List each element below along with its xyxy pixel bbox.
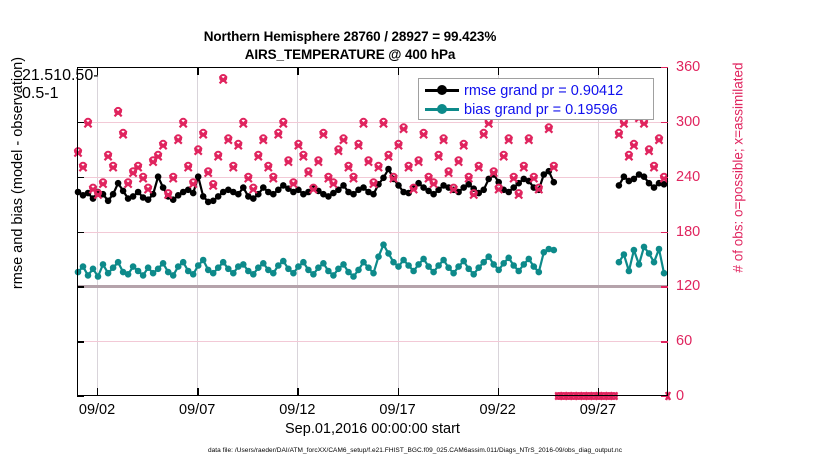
y-right-tick-label: 60 [676, 333, 692, 349]
y-right-tickmark [661, 177, 668, 178]
y-right-tickmark [661, 122, 668, 123]
y-left-tickmark [77, 396, 84, 397]
x-tick-label: 09/07 [179, 402, 215, 418]
y-axis-left-label: rmse and bias (model - observation) [10, 3, 26, 343]
y-right-tick-label: 180 [676, 224, 700, 240]
y-right-tickmark [661, 67, 668, 68]
x-tick-label: 09/27 [580, 402, 616, 418]
y-left-tick-label: 1.5 [31, 67, 53, 84]
legend-entry-rmse: rmse grand pr = 0.90412 [425, 81, 623, 100]
rmse-marker-swatch [437, 85, 447, 95]
x-tickmark [197, 388, 198, 395]
x-tickmark [297, 388, 298, 395]
x-tick-label: 09/02 [79, 402, 115, 418]
y-right-tickmark [661, 341, 668, 342]
y-left-tickmark [77, 122, 84, 123]
bias-marker-swatch [437, 104, 447, 114]
y-right-tickmark [661, 286, 668, 287]
y-right-tick-label: 240 [676, 169, 700, 185]
x-tickmark [97, 388, 98, 395]
y-axis-right-ticks: 360300240180120600 [672, 67, 732, 396]
y-right-tick-label: 120 [676, 278, 700, 294]
y-right-tick-label: 360 [676, 59, 700, 75]
y-right-tick-label: 300 [676, 114, 700, 130]
y-left-tickmark [77, 232, 84, 233]
legend-entry-bias: bias grand pr = 0.19596 [425, 100, 618, 119]
x-tickmark [197, 68, 198, 75]
y-left-tickmark [77, 67, 84, 68]
y-right-tickmark [661, 232, 668, 233]
chart-title-line2: AIRS_TEMPERATURE @ 400 hPa [0, 47, 700, 62]
y-right-tickmark [661, 396, 668, 397]
y-right-tick-label: 0 [676, 388, 684, 404]
x-tickmark [598, 68, 599, 75]
y-left-tickmark [77, 177, 84, 178]
x-tickmark [498, 68, 499, 75]
x-tickmark [498, 388, 499, 395]
x-tickmark [297, 68, 298, 75]
legend-box: rmse grand pr = 0.90412 bias grand pr = … [418, 78, 654, 120]
x-tickmark [398, 388, 399, 395]
data-file-note: data file: /Users/raeder/DAI/ATM_forcXX/… [0, 447, 830, 454]
x-axis-ticks: 09/0209/0709/1209/1709/2209/27 [77, 398, 668, 420]
y-left-tick-label: -1 [44, 85, 58, 102]
x-tickmark [97, 68, 98, 75]
x-tickmark [398, 68, 399, 75]
bias-line-swatch [425, 108, 459, 111]
x-tick-label: 09/12 [279, 402, 315, 418]
y-axis-right-label: # of obs: o=possible; x=assimilated [731, 0, 746, 338]
x-tickmark [598, 388, 599, 395]
y-left-tickmark [77, 341, 84, 342]
y-left-tick-label: 0 [84, 67, 93, 84]
x-axis-label: Sep.01,2016 00:00:00 start [77, 421, 668, 437]
chart-title-line1: Northern Hemisphere 28760 / 28927 = 99.4… [0, 29, 700, 44]
y-left-tick-label: 1 [53, 67, 62, 84]
rmse-line-swatch [425, 89, 459, 92]
legend-label-bias: bias grand pr = 0.19596 [464, 102, 618, 118]
x-tick-label: 09/17 [379, 402, 415, 418]
x-tick-label: 09/22 [480, 402, 516, 418]
legend-label-rmse: rmse grand pr = 0.90412 [464, 83, 623, 99]
y-left-tick-label: 0.5 [62, 67, 84, 84]
y-axis-left-ticks: 21.510.50-0.5-1 [22, 67, 70, 396]
y-left-tickmark [77, 286, 84, 287]
